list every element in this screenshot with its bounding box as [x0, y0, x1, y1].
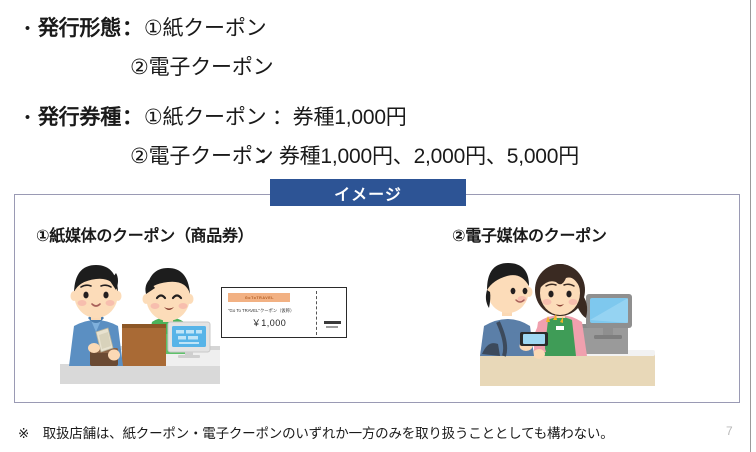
illustration-paper-coupon-scene	[60, 252, 220, 384]
page-number: 7	[726, 424, 733, 438]
bullet-row-issue-form-2: ②電子クーポン	[18, 49, 748, 87]
footnote-mark-icon: ※	[18, 426, 29, 441]
right-edge-rule	[750, 0, 751, 452]
bullet-value-digital-coupon: ②電子クーポン	[130, 49, 273, 87]
bullet-row-issue-form-1: ・ 発行形態 ： ①紙クーポン	[18, 10, 748, 49]
bullet-label-denomination: 発行券種	[38, 99, 121, 137]
bullet-colon: ：	[122, 10, 143, 48]
denomination-value-digital: 券種1,000円、2,000円、5,000円	[279, 138, 579, 176]
coupon-caption: "Go To TRAVEL"クーポン（仮称）	[228, 308, 314, 314]
paper-coupon-ticket: GoToTRAVEL "Go To TRAVEL"クーポン（仮称） ￥1,000	[221, 287, 347, 338]
bullet-row-denomination-2: ②電子クーポン ： 券種1,000円、2,000円、5,000円	[18, 138, 748, 176]
column-heading-digital: ②電子媒体のクーポン	[452, 222, 607, 246]
denomination-value-paper: 券種1,000円	[293, 99, 407, 137]
bullet-label-issue-form: 発行形態	[38, 10, 121, 48]
denomination-item-paper: ①紙クーポン	[144, 99, 272, 137]
denomination-item-digital: ②電子クーポン	[130, 138, 258, 176]
footnote: ※ 取扱店舗は、紙クーポン・電子クーポンのいずれか一方のみを取り扱うこととしても…	[18, 422, 614, 442]
slide-page: ・ 発行形態 ： ①紙クーポン ②電子クーポン ・ 発行券種 ： ①紙クーポン …	[0, 0, 756, 452]
coupon-amount: ￥1,000	[228, 316, 310, 329]
customer-figure	[69, 265, 123, 366]
column-heading-paper: ①紙媒体のクーポン（商品券）	[36, 222, 253, 246]
bullet-dot-icon-2: ・	[18, 100, 37, 138]
coupon-stub-mark-1	[324, 321, 341, 324]
bullet-dot-icon: ・	[18, 11, 37, 49]
footnote-text: 取扱店舗は、紙クーポン・電子クーポンのいずれか一方のみを取り扱うこととしても構わ…	[43, 426, 614, 441]
illustration-digital-coupon-scene	[480, 250, 655, 386]
bullet-row-denomination-1: ・ 発行券種 ： ①紙クーポン ： 券種1,000円	[18, 99, 748, 138]
bullet-value-paper-coupon: ①紙クーポン	[144, 10, 267, 48]
section-banner-image: イメージ	[270, 179, 466, 206]
bullet-colon-2: ：	[122, 99, 143, 137]
coupon-stub-mark-2	[326, 326, 338, 328]
smartphone-icon	[520, 332, 548, 346]
denomination-sep-paper: ：	[272, 99, 293, 137]
coupon-brand-text: GoToTRAVEL	[244, 295, 273, 299]
coupon-perforation-line	[316, 291, 317, 335]
coupon-brand-band: GoToTRAVEL	[228, 293, 290, 302]
denomination-sep-digital: ：	[258, 138, 279, 176]
bullet-list: ・ 発行形態 ： ①紙クーポン ②電子クーポン ・ 発行券種 ： ①紙クーポン …	[18, 10, 748, 176]
